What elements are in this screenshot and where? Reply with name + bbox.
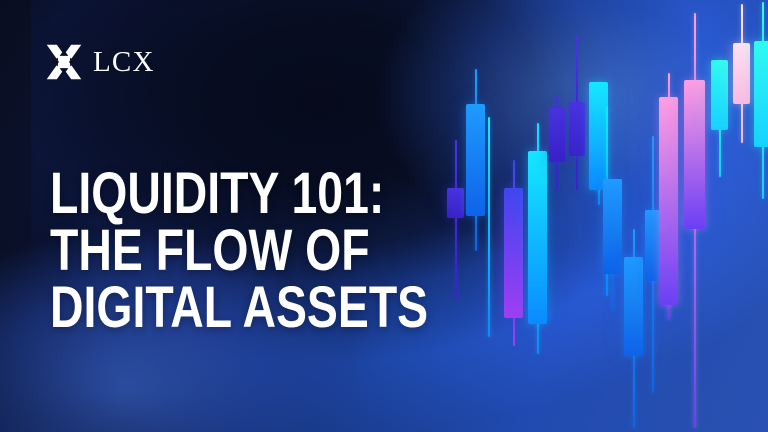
headline-line-1: LIQUIDITY 101:: [50, 166, 386, 221]
headline-block: LIQUIDITY 101: THE FLOW OF DIGITAL ASSET…: [50, 166, 470, 335]
brand-wordmark: LCX: [93, 48, 155, 77]
promo-banner: LCX LIQUIDITY 101: THE FLOW OF DIGITAL A…: [0, 0, 768, 432]
headline-line-3: DIGITAL ASSETS: [50, 280, 386, 335]
lcx-x-mark-icon: [46, 44, 82, 80]
headline-line-2: THE FLOW OF: [50, 223, 386, 278]
brand-logo[interactable]: LCX: [46, 44, 155, 80]
